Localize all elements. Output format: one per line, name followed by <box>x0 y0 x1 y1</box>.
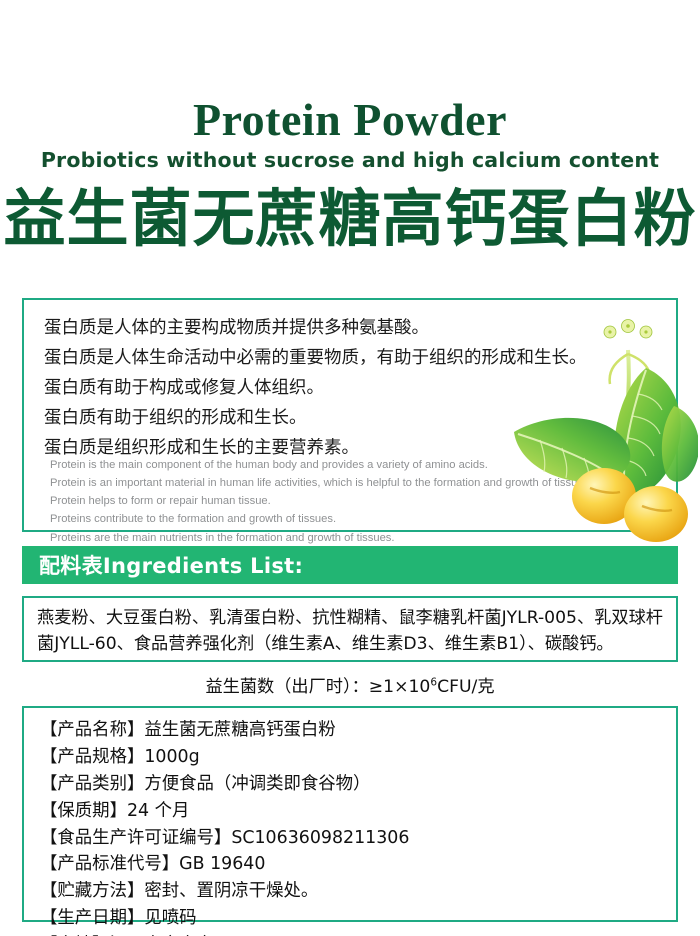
description-english-line: Protein is the main component of the hum… <box>50 456 690 474</box>
ingredients-body-card: 燕麦粉、大豆蛋白粉、乳清蛋白粉、抗性糊精、鼠李糖乳杆菌JYLR-005、乳双球杆… <box>22 596 678 662</box>
probiotic-count-prefix: 益生菌数（出厂时）：≥1×10 <box>205 677 430 697</box>
ingredients-body-text: 燕麦粉、大豆蛋白粉、乳清蛋白粉、抗性糊精、鼠李糖乳杆菌JYLR-005、乳双球杆… <box>24 598 676 657</box>
spec-value: 24 个月 <box>127 801 189 821</box>
description-english-line: Proteins are the main nutrients in the f… <box>50 529 690 547</box>
spec-row: 【贮藏方法】密封、置阴凉干燥处。 <box>40 878 676 905</box>
specifications-list: 【产品名称】益生菌无蔗糖高钙蛋白粉 【产品规格】1000g 【产品类别】方便食品… <box>24 708 676 936</box>
page-title-chinese: 益生菌无蔗糖高钙蛋白粉 <box>0 184 700 253</box>
ingredients-header-bar: 配料表Ingredients List: <box>22 546 678 584</box>
description-english-list: Protein is the main component of the hum… <box>50 456 690 547</box>
description-english-line: Protein helps to form or repair human ti… <box>50 492 690 510</box>
spec-value: 益生菌无蔗糖高钙蛋白粉 <box>144 720 335 740</box>
spec-row: 【产品名称】益生菌无蔗糖高钙蛋白粉 <box>40 717 676 744</box>
spec-label: 【产品规格】 <box>40 747 144 767</box>
spec-value: SC10636098211306 <box>231 828 409 848</box>
spec-value: 见喷码 <box>144 908 196 928</box>
description-card: 蛋白质是人体的主要构成物质并提供多种氨基酸。 蛋白质是人体生命活动中必需的重要物… <box>22 298 678 532</box>
spec-value: GB 19640 <box>179 854 265 874</box>
description-chinese-line: 蛋白质是人体的主要构成物质并提供多种氨基酸。 <box>44 313 684 343</box>
spec-label: 【食品生产许可证编号】 <box>40 828 231 848</box>
spec-label: 【贮藏方法】 <box>40 881 144 901</box>
product-label-page: Protein Powder Probiotics without sucros… <box>0 0 700 936</box>
spec-row: 【产地】江西省宜春市 <box>40 932 676 936</box>
spec-row: 【生产日期】见喷码 <box>40 905 676 932</box>
ingredients-header-label: 配料表Ingredients List: <box>22 550 303 580</box>
description-chinese-line: 蛋白质有助于构成或修复人体组织。 <box>44 373 684 403</box>
header-title-block: Protein Powder Probiotics without sucros… <box>0 96 700 254</box>
spec-label: 【生产日期】 <box>40 908 144 928</box>
page-title-english: Protein Powder <box>0 96 700 144</box>
probiotic-count-line: 益生菌数（出厂时）：≥1×106CFU/克 <box>22 672 678 697</box>
description-chinese-line: 蛋白质是人体生命活动中必需的重要物质，有助于组织的形成和生长。 <box>44 343 684 373</box>
probiotic-count-suffix: CFU/克 <box>437 677 494 697</box>
spec-row: 【产品标准代号】GB 19640 <box>40 851 676 878</box>
description-english-line: Proteins contribute to the formation and… <box>50 510 690 528</box>
spec-value: 密封、置阴凉干燥处。 <box>144 881 318 901</box>
spec-label: 【产品标准代号】 <box>40 854 179 874</box>
spec-row: 【保质期】24 个月 <box>40 798 676 825</box>
description-chinese-line: 蛋白质有助于组织的形成和生长。 <box>44 403 684 433</box>
spec-label: 【产品类别】 <box>40 774 144 794</box>
specifications-card: 【产品名称】益生菌无蔗糖高钙蛋白粉 【产品规格】1000g 【产品类别】方便食品… <box>22 706 678 922</box>
description-chinese-list: 蛋白质是人体的主要构成物质并提供多种氨基酸。 蛋白质是人体生命活动中必需的重要物… <box>44 313 684 463</box>
spec-label: 【保质期】 <box>40 801 127 821</box>
spec-label: 【产品名称】 <box>40 720 144 740</box>
spec-value: 方便食品（冲调类即食谷物） <box>144 774 370 794</box>
spec-row: 【产品规格】1000g <box>40 744 676 771</box>
page-subtitle-english: Probiotics without sucrose and high calc… <box>0 148 700 172</box>
spec-row: 【产品类别】方便食品（冲调类即食谷物） <box>40 771 676 798</box>
spec-value: 1000g <box>144 747 199 767</box>
spec-row: 【食品生产许可证编号】SC10636098211306 <box>40 825 676 852</box>
description-english-line: Protein is an important material in huma… <box>50 474 690 492</box>
